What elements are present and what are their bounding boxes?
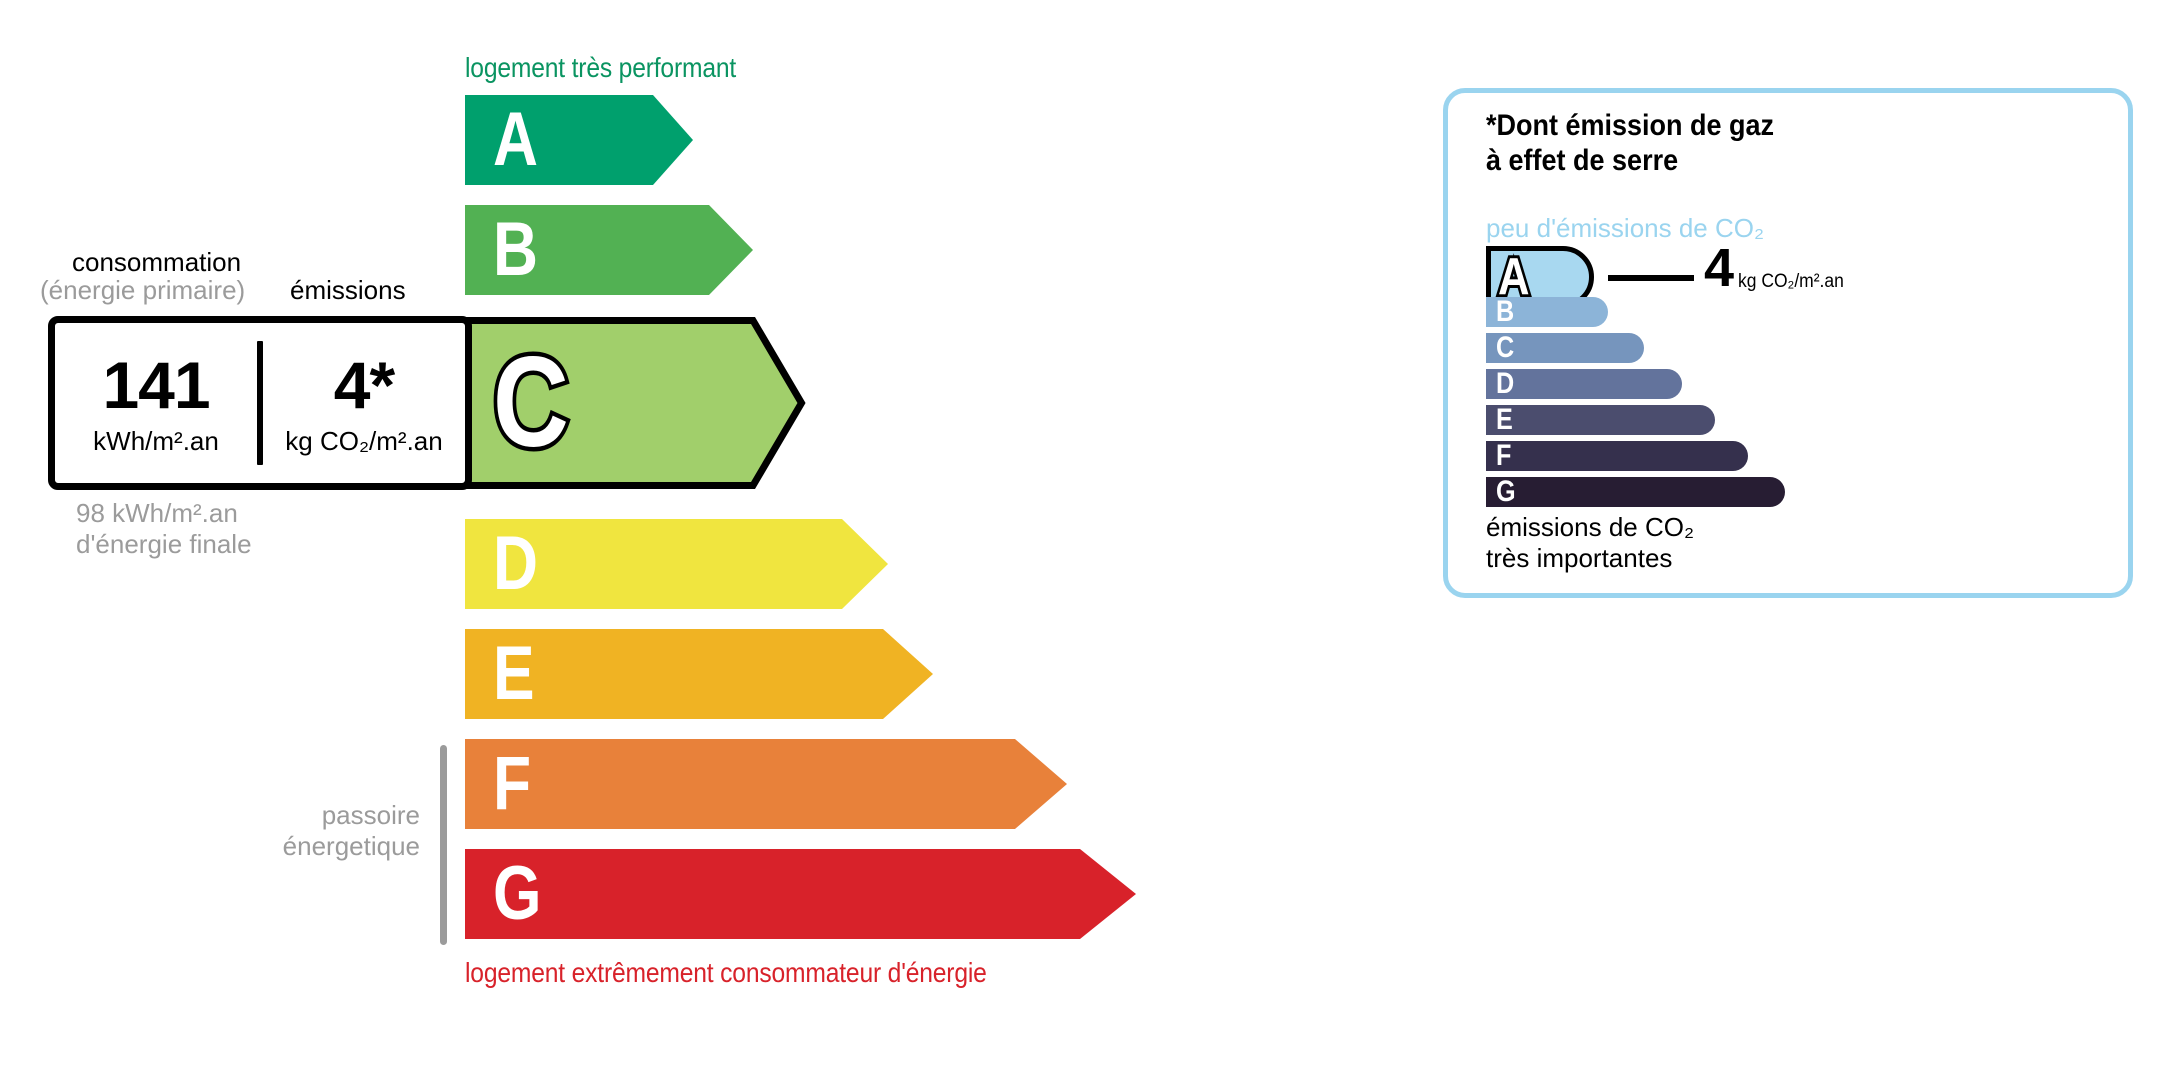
ges-bar-letter-c: C <box>1496 333 1514 363</box>
emissions-value: 4* <box>334 352 394 418</box>
band-letter-f: F <box>493 746 531 822</box>
ges-bar-b: B <box>1486 297 1608 327</box>
energy-band-e: E <box>465 629 933 719</box>
ges-bar-c: C <box>1486 333 1644 363</box>
ges-value: 4 <box>1704 241 1734 295</box>
consumption-unit: kWh/m².an <box>93 428 219 454</box>
band-letter-a: A <box>493 102 538 178</box>
band-arrow-shape-f <box>465 739 1067 829</box>
ges-bar-d: D <box>1486 369 1682 399</box>
energy-bottom-caption: logement extrêmement consommateur d'éner… <box>465 957 987 989</box>
band-letter-g: G <box>493 856 541 932</box>
final-energy-note: 98 kWh/m².an d'énergie finale <box>76 498 252 559</box>
ges-bar-letter-f: F <box>1496 441 1511 471</box>
emissions-label: émissions <box>290 276 406 305</box>
ges-bar-f: F <box>1486 441 1748 471</box>
energy-band-g: G <box>465 849 1136 939</box>
energy-band-a: A <box>465 95 693 185</box>
ges-panel-title: *Dont émission de gaz à effet de serre <box>1486 109 1774 179</box>
ges-bar-g: G <box>1486 477 1785 507</box>
band-letter-d: D <box>493 526 538 602</box>
energy-top-caption: logement très performant <box>465 52 736 84</box>
consumption-cell: 141 kWh/m².an <box>55 323 257 483</box>
band-arrow-shape-e <box>465 629 933 719</box>
ges-bottom-caption: émissions de CO₂ très importantes <box>1486 512 1694 573</box>
ges-bar-e: E <box>1486 405 1715 435</box>
energy-band-f: F <box>465 739 1067 829</box>
band-arrow-shape-g <box>465 849 1136 939</box>
consumption-value: 141 <box>102 352 209 418</box>
emissions-cell: 4* kg CO₂/m².an <box>263 323 465 483</box>
energy-band-d: D <box>465 519 888 609</box>
ges-bar-letter-e: E <box>1496 405 1513 435</box>
consumption-emissions-box: 141 kWh/m².an 4* kg CO₂/m².an <box>48 316 472 490</box>
ges-bar-letter-d: D <box>1496 369 1514 399</box>
ges-panel: *Dont émission de gaz à effet de serre p… <box>1443 88 2133 598</box>
band-letter-c: C <box>493 339 569 467</box>
ges-value-unit: kg CO₂/m².an <box>1738 271 1844 293</box>
consumption-label: consommation <box>72 248 241 277</box>
emissions-unit: kg CO₂/m².an <box>285 428 442 454</box>
energy-band-c: C <box>463 317 805 489</box>
band-letter-e: E <box>493 636 535 712</box>
band-letter-b: B <box>493 212 538 288</box>
primary-energy-label: (énergie primaire) <box>40 276 245 305</box>
ges-bar-letter-g: G <box>1496 477 1516 507</box>
energy-band-b: B <box>465 205 753 295</box>
passoire-bracket <box>440 745 447 945</box>
dpe-energy-label: logement très performant ABCDEFG consomm… <box>0 0 1400 1079</box>
ges-bar-letter-b: B <box>1496 297 1514 327</box>
passoire-label: passoire énergetique <box>140 800 420 861</box>
ges-leader-line <box>1608 275 1694 281</box>
